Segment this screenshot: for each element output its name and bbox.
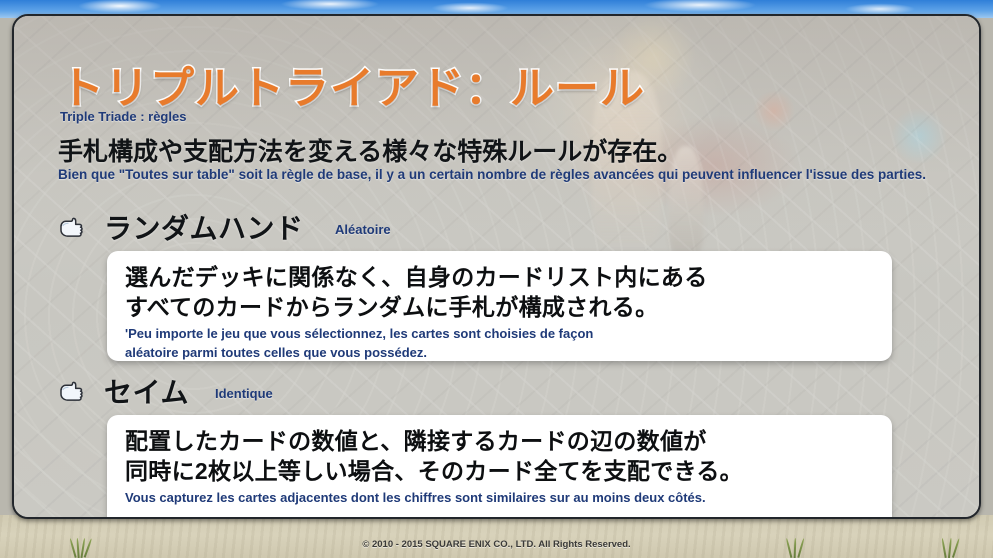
rule-card: 選んだデッキに関係なく、自身のカードリスト内にある すべてのカードからランダムに… bbox=[107, 251, 892, 361]
panel-content: トリプルトライアド：ルール Triple Triade : règles 手札構… bbox=[14, 16, 979, 517]
rule-heading: セイム Identique bbox=[58, 376, 458, 410]
pointing-hand-icon bbox=[58, 216, 88, 242]
screen: トリプルトライアド：ルール Triple Triade : règles 手札構… bbox=[0, 0, 993, 558]
rule-body-french: Vous capturez les cartes adjacentes dont… bbox=[125, 488, 706, 507]
rule-body-japanese: 配置したカードの数値と、隣接するカードの辺の数値が 同時に2枚以上等しい場合、そ… bbox=[125, 426, 743, 486]
rule-body-french: 'Peu importe le jeu que vous sélectionne… bbox=[125, 324, 593, 362]
page-title-french: Triple Triade : règles bbox=[60, 109, 186, 124]
rule-heading-japanese: セイム bbox=[104, 371, 189, 411]
rule-heading-french: Identique bbox=[215, 386, 273, 401]
ground-background bbox=[0, 515, 993, 558]
rule-heading-japanese: ランダムハンド bbox=[104, 207, 304, 247]
pointing-hand-icon bbox=[58, 380, 88, 406]
lead-text-french: Bien que "Toutes sur table" soit la règl… bbox=[58, 166, 926, 184]
rule-heading: ランダムハンド Aléatoire bbox=[58, 212, 478, 246]
rules-panel: トリプルトライアド：ルール Triple Triade : règles 手札構… bbox=[12, 14, 981, 519]
lead-text-japanese: 手札構成や支配方法を変える様々な特殊ルールが存在。 bbox=[58, 132, 682, 168]
copyright-notice: © 2010 - 2015 SQUARE ENIX CO., LTD. All … bbox=[0, 539, 993, 550]
page-title: トリプルトライアド：ルール bbox=[60, 52, 645, 116]
rule-heading-french: Aléatoire bbox=[335, 222, 391, 237]
rule-body-japanese: 選んだデッキに関係なく、自身のカードリスト内にある すべてのカードからランダムに… bbox=[125, 262, 708, 322]
rule-card: 配置したカードの数値と、隣接するカードの辺の数値が 同時に2枚以上等しい場合、そ… bbox=[107, 415, 892, 519]
